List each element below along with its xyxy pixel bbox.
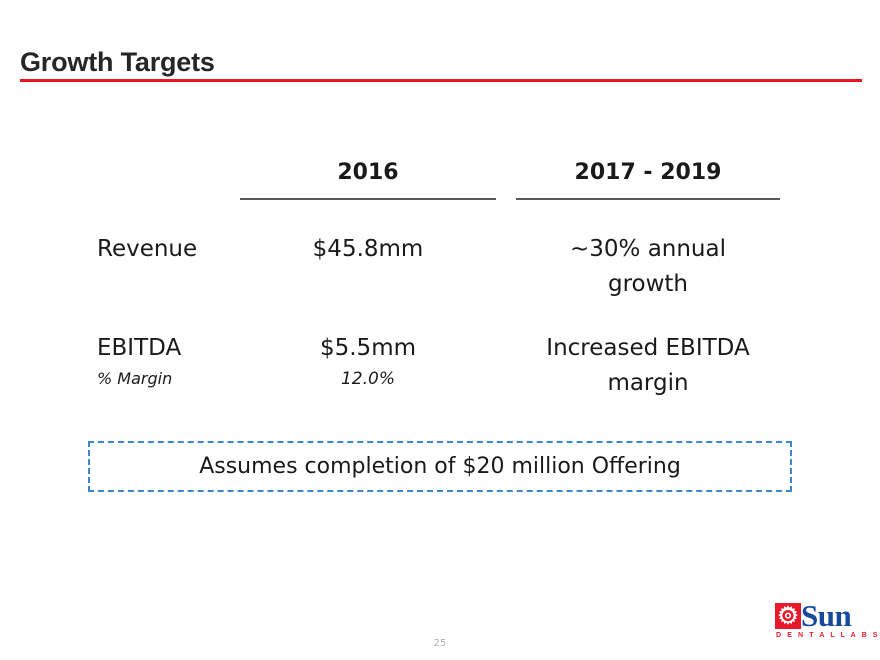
growth-targets-table: 2016 2017 - 2019 Revenue $45.8mm ~30% an… bbox=[60, 160, 820, 401]
header-2016-underline bbox=[240, 198, 496, 200]
row-2016-value: $5.5mm bbox=[320, 335, 416, 361]
sun-starburst-icon bbox=[775, 603, 801, 629]
row-2016-sub-value: 12.0% bbox=[232, 367, 504, 391]
row-2016-value: $45.8mm bbox=[313, 236, 424, 262]
row-sub-label-text: % Margin bbox=[97, 367, 232, 391]
title-accent-rule bbox=[20, 79, 862, 82]
table-row: EBITDA % Margin $5.5mm 12.0% Increased E… bbox=[60, 331, 820, 401]
assumption-callout-box: Assumes completion of $20 million Offeri… bbox=[88, 441, 792, 492]
row-forward-line1: Increased EBITDA bbox=[528, 331, 768, 366]
slide-canvas: Growth Targets 2016 2017 - 2019 Revenue … bbox=[0, 0, 880, 660]
assumption-callout-text: Assumes completion of $20 million Offeri… bbox=[199, 454, 681, 480]
page-number: 25 bbox=[0, 638, 880, 649]
header-cell-2016: 2016 bbox=[232, 160, 504, 200]
table-header-row: 2016 2017 - 2019 bbox=[60, 160, 820, 200]
page-title: Growth Targets bbox=[20, 47, 215, 78]
row-2016-cell: $45.8mm bbox=[232, 232, 504, 267]
row-2016-cell: $5.5mm 12.0% bbox=[232, 331, 504, 391]
header-forward-underline bbox=[516, 198, 780, 200]
logo-wordmark: Sun bbox=[801, 599, 851, 633]
table-row: Revenue $45.8mm ~30% annual growth bbox=[60, 232, 820, 302]
row-forward-line2: growth bbox=[528, 267, 768, 302]
row-label-cell: EBITDA % Margin bbox=[60, 331, 232, 391]
sun-dental-labs-logo: Sun D E N T A L L A B S bbox=[775, 601, 867, 641]
row-forward-line2: margin bbox=[528, 366, 768, 401]
row-forward-cell: ~30% annual growth bbox=[504, 232, 792, 302]
row-label-text: EBITDA bbox=[97, 335, 181, 361]
row-forward-cell: Increased EBITDA margin bbox=[504, 331, 792, 401]
row-label-text: Revenue bbox=[97, 236, 197, 262]
header-forward-text: 2017 - 2019 bbox=[528, 160, 768, 186]
header-2016-text: 2016 bbox=[232, 160, 504, 186]
logo-tagline: D E N T A L L A B S bbox=[776, 631, 880, 640]
row-forward-line1: ~30% annual bbox=[528, 232, 768, 267]
header-cell-forward: 2017 - 2019 bbox=[504, 160, 792, 200]
row-label-cell: Revenue bbox=[60, 232, 232, 267]
